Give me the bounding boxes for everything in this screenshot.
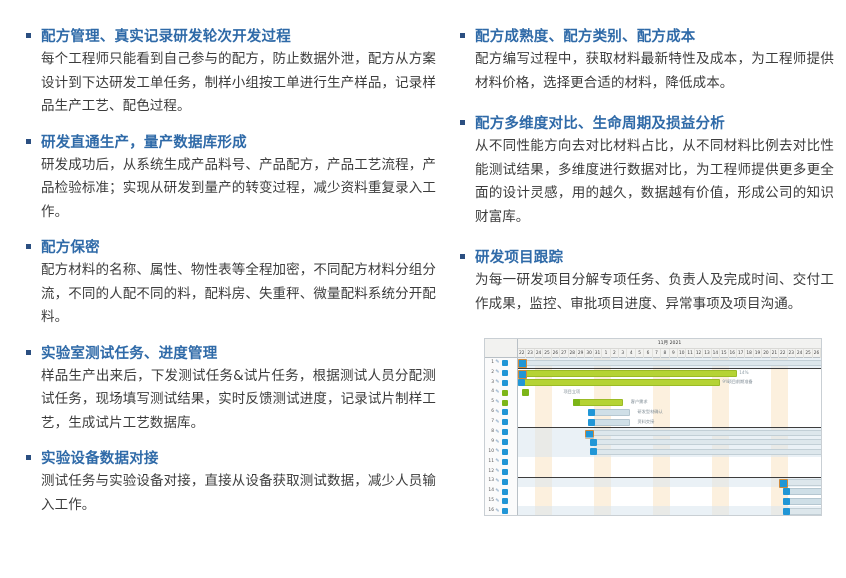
pencil-icon[interactable]: ✎	[494, 370, 501, 375]
gantt-task-tracks: 14%9%项目前期准备项目立项客户需求研发型材确认资料交接基础物料采购系统流程确…	[518, 358, 821, 515]
gantt-task-row[interactable]: 研发型材确认	[518, 407, 821, 417]
gantt-day-tick: 4	[627, 349, 635, 358]
right-column: 配方成熟度、配方类别、配方成本 配方编写过程中，获取材料最新特性及成本，为工程师…	[446, 26, 846, 516]
feature-block-rd-to-production: 研发直通生产，量产数据库形成 研发成功后，从系统生成产品料号、产品配方，产品工艺…	[26, 132, 436, 225]
gantt-row-number: 7	[486, 420, 494, 424]
gantt-milestone-chip[interactable]	[588, 419, 595, 426]
gantt-bar[interactable]	[590, 449, 821, 456]
gantt-row-marker-icon	[502, 479, 508, 485]
gantt-row-header[interactable]: 3✎	[485, 378, 517, 388]
gantt-day-tick: 23	[788, 349, 796, 358]
feature-block-lab-test-task: 实验室测试任务、进度管理 样品生产出来后，下发测试任务&试片任务，根据测试人员分…	[26, 343, 436, 436]
feature-description: 配方编写过程中，获取材料最新特性及成本，为工程师提供材料价格，选择更合适的材料，…	[475, 48, 834, 95]
feature-description: 每个工程师只能看到自己参与的配方，防止数据外泄，配方从方案设计到下达研发工单任务…	[41, 48, 436, 119]
feature-title: 实验设备数据对接	[41, 448, 159, 470]
feature-block-formula-management: 配方管理、真实记录研发轮次开发过程 每个工程师只能看到自己参与的配方，防止数据外…	[26, 26, 436, 119]
gantt-row-number: 2	[486, 371, 494, 375]
gantt-bar[interactable]	[573, 399, 624, 406]
gantt-timeline-header: 11月 2021 2223242526272829303112345678910…	[518, 339, 821, 358]
gantt-day-tick: 9	[670, 349, 678, 358]
gantt-row-marker-icon	[502, 370, 508, 376]
gantt-task-row[interactable]: 14%	[518, 368, 821, 378]
square-bullet-icon	[460, 120, 465, 125]
gantt-task-label: 资料交接	[638, 419, 655, 426]
gantt-progress-label: 14%	[739, 370, 748, 377]
feature-heading-row: 研发直通生产，量产数据库形成	[26, 132, 436, 154]
feature-block-multidimensional-comparison: 配方多维度对比、生命周期及损益分析 从不同性能方向去对比材料占比，从不同材料比例…	[460, 113, 834, 229]
gantt-day-tick: 10	[678, 349, 686, 358]
gantt-row-number: 1	[486, 361, 494, 365]
gantt-row-number: 12	[486, 470, 494, 474]
gantt-day-tick: 22	[779, 349, 787, 358]
gantt-day-tick: 15	[720, 349, 728, 358]
gantt-task-row[interactable]	[518, 506, 821, 515]
gantt-milestone-chip[interactable]	[588, 409, 595, 416]
pencil-icon[interactable]: ✎	[494, 449, 501, 454]
gantt-row-marker-icon	[502, 409, 508, 415]
gantt-row-header[interactable]: 4✎	[485, 388, 517, 398]
feature-title: 配方多维度对比、生命周期及损益分析	[475, 113, 725, 135]
gantt-row-marker-icon	[502, 459, 508, 465]
feature-block-lab-equipment-integration: 实验设备数据对接 测试任务与实验设备对接，直接从设备获取测试数据，减少人员输入工…	[26, 448, 436, 517]
gantt-bar[interactable]	[518, 379, 720, 386]
pencil-icon[interactable]: ✎	[494, 499, 501, 504]
gantt-row-number: 8	[486, 430, 494, 434]
gantt-task-label: 客户需求	[631, 399, 648, 406]
gantt-task-row[interactable]: 基础物料采购	[518, 487, 821, 497]
gantt-day-tick: 22	[518, 349, 526, 358]
gantt-task-row[interactable]	[518, 358, 821, 368]
gantt-row-number: 13	[486, 479, 494, 483]
gantt-row-number: 15	[486, 499, 494, 503]
gantt-day-tick: 25	[543, 349, 551, 358]
gantt-row-header[interactable]: 6✎	[485, 407, 517, 417]
gantt-row-header[interactable]: 7✎	[485, 417, 517, 427]
gantt-row-header[interactable]: 16✎	[485, 506, 517, 516]
gantt-row-marker-icon	[502, 469, 508, 475]
pencil-icon[interactable]: ✎	[494, 390, 501, 395]
gantt-milestone-chip[interactable]	[783, 488, 790, 495]
feature-heading-row: 配方多维度对比、生命周期及损益分析	[460, 113, 834, 135]
feature-title: 研发项目跟踪	[475, 247, 563, 269]
gantt-day-tick: 2	[611, 349, 619, 358]
gantt-chart[interactable]: 1✎2✎3✎4✎5✎6✎7✎8✎9✎10✎11✎12✎13✎14✎15✎16✎ …	[484, 338, 822, 516]
square-bullet-icon	[26, 350, 31, 355]
gantt-row-header[interactable]: 1✎	[485, 358, 517, 368]
gantt-milestone-chip[interactable]	[518, 379, 525, 386]
gantt-task-row[interactable]	[518, 477, 821, 487]
gantt-day-tick: 19	[754, 349, 762, 358]
gantt-task-row[interactable]	[518, 457, 821, 467]
gantt-milestone-chip[interactable]	[573, 399, 580, 406]
gantt-day-tick: 17	[737, 349, 745, 358]
gantt-day-tick: 18	[745, 349, 753, 358]
gantt-row-marker-icon	[502, 498, 508, 504]
gantt-day-tick: 20	[762, 349, 770, 358]
gantt-task-row[interactable]: 客户需求	[518, 398, 821, 408]
gantt-day-tick: 24	[796, 349, 804, 358]
pencil-icon[interactable]: ✎	[494, 430, 501, 435]
gantt-day-tick: 29	[577, 349, 585, 358]
gantt-row-gutter: 1✎2✎3✎4✎5✎6✎7✎8✎9✎10✎11✎12✎13✎14✎15✎16✎	[485, 339, 518, 515]
feature-heading-row: 配方保密	[26, 237, 436, 259]
square-bullet-icon	[26, 33, 31, 38]
gantt-bar[interactable]	[590, 439, 821, 446]
two-column-layout: 配方管理、真实记录研发轮次开发过程 每个工程师只能看到自己参与的配方，防止数据外…	[0, 0, 846, 578]
gantt-task-row[interactable]	[518, 447, 821, 457]
pencil-icon[interactable]: ✎	[494, 360, 501, 365]
slide-root: 配方管理、真实记录研发轮次开发过程 每个工程师只能看到自己参与的配方，防止数据外…	[0, 0, 846, 578]
gantt-day-tick: 5	[636, 349, 644, 358]
gantt-row-header[interactable]: 11✎	[485, 457, 517, 467]
gantt-day-tick: 3	[619, 349, 627, 358]
gantt-row-marker-icon	[502, 439, 508, 445]
gantt-row-header[interactable]: 9✎	[485, 437, 517, 447]
gantt-day-tick: 7	[653, 349, 661, 358]
gantt-month-band: 11月 2021	[518, 339, 821, 349]
gantt-row-number: 11	[486, 460, 494, 464]
gantt-row-marker-icon	[502, 380, 508, 386]
feature-description: 为每一研发项目分解专项任务、负责人及完成时间、交付工作成果，监控、审批项目进度、…	[475, 269, 834, 316]
gantt-day-tick: 23	[526, 349, 534, 358]
feature-block-formula-maturity-cost: 配方成熟度、配方类别、配方成本 配方编写过程中，获取材料最新特性及成本，为工程师…	[460, 26, 834, 95]
feature-title: 研发直通生产，量产数据库形成	[41, 132, 247, 154]
gantt-day-tick: 21	[771, 349, 779, 358]
gantt-day-tick: 12	[695, 349, 703, 358]
feature-title: 实验室测试任务、进度管理	[41, 343, 217, 365]
feature-block-formula-confidentiality: 配方保密 配方材料的名称、属性、物性表等全程加密，不同配方材料分组分流，不同的人…	[26, 237, 436, 330]
gantt-row-number: 10	[486, 450, 494, 454]
gantt-bar[interactable]	[585, 430, 821, 437]
gantt-task-label: 研发型材确认	[638, 409, 663, 416]
feature-title: 配方成熟度、配方类别、配方成本	[475, 26, 696, 48]
gantt-task-row[interactable]: 项目立项	[518, 388, 821, 398]
pencil-icon[interactable]: ✎	[494, 459, 501, 464]
gantt-month-label: 11月 2021	[658, 339, 682, 348]
gantt-day-tick: 11	[686, 349, 694, 358]
gantt-row-number: 6	[486, 410, 494, 414]
gantt-day-tick: 25	[804, 349, 812, 358]
gantt-day-tick: 1	[602, 349, 610, 358]
gantt-day-tick: 28	[569, 349, 577, 358]
gantt-day-tick: 27	[560, 349, 568, 358]
gantt-task-row[interactable]	[518, 437, 821, 447]
square-bullet-icon	[26, 139, 31, 144]
gantt-row-header[interactable]: 13✎	[485, 477, 517, 487]
gantt-bar[interactable]	[518, 370, 737, 377]
gantt-row-number: 16	[486, 509, 494, 513]
gantt-row-marker-icon	[502, 449, 508, 455]
gantt-chart-body[interactable]: 14%9%项目前期准备项目立项客户需求研发型材确认资料交接基础物料采购系统流程确…	[518, 358, 821, 515]
square-bullet-icon	[460, 254, 465, 259]
gantt-row-header[interactable]: 15✎	[485, 496, 517, 506]
gantt-task-row[interactable]: 资料交接	[518, 417, 821, 427]
gantt-task-row[interactable]	[518, 467, 821, 477]
gantt-row-marker-icon	[502, 419, 508, 425]
gantt-day-tick: 26	[552, 349, 560, 358]
gantt-row-marker-icon	[502, 489, 508, 495]
gantt-gutter-rows: 1✎2✎3✎4✎5✎6✎7✎8✎9✎10✎11✎12✎13✎14✎15✎16✎	[485, 358, 517, 516]
gantt-day-tick: 31	[594, 349, 602, 358]
gantt-row-header[interactable]: 2✎	[485, 368, 517, 378]
gantt-day-tick-row: 2223242526272829303112345678910111213141…	[518, 349, 821, 358]
gantt-task-label: 项目立项	[563, 389, 580, 396]
gantt-row-marker-icon	[502, 508, 508, 514]
square-bullet-icon	[26, 244, 31, 249]
gantt-row-number: 14	[486, 489, 494, 493]
pencil-icon[interactable]: ✎	[494, 400, 501, 405]
feature-heading-row: 配方成熟度、配方类别、配方成本	[460, 26, 834, 48]
gantt-chart-figure: 1✎2✎3✎4✎5✎6✎7✎8✎9✎10✎11✎12✎13✎14✎15✎16✎ …	[484, 338, 822, 516]
feature-heading-row: 配方管理、真实记录研发轮次开发过程	[26, 26, 436, 48]
gantt-row-header[interactable]: 10✎	[485, 447, 517, 457]
feature-title: 配方保密	[41, 237, 100, 259]
gantt-task-row[interactable]: 系统流程确认	[518, 496, 821, 506]
pencil-icon[interactable]: ✎	[494, 509, 501, 514]
gantt-task-label: 项目前期准备	[728, 379, 753, 386]
feature-description: 配方材料的名称、属性、物性表等全程加密，不同配方材料分组分流，不同的人配不同的料…	[41, 259, 436, 330]
feature-title: 配方管理、真实记录研发轮次开发过程	[41, 26, 291, 48]
gantt-day-tick: 14	[712, 349, 720, 358]
gantt-day-tick: 6	[644, 349, 652, 358]
pencil-icon[interactable]: ✎	[494, 489, 501, 494]
left-column: 配方管理、真实记录研发轮次开发过程 每个工程师只能看到自己参与的配方，防止数据外…	[0, 26, 446, 517]
feature-description: 测试任务与实验设备对接，直接从设备获取测试数据，减少人员输入工作。	[41, 470, 436, 517]
feature-heading-row: 实验室测试任务、进度管理	[26, 343, 436, 365]
pencil-icon[interactable]: ✎	[494, 420, 501, 425]
gantt-row-marker-icon	[502, 400, 508, 406]
feature-block-project-tracking: 研发项目跟踪 为每一研发项目分解专项任务、负责人及完成时间、交付工作成果，监控、…	[460, 247, 834, 316]
gantt-day-tick: 24	[535, 349, 543, 358]
feature-description: 样品生产出来后，下发测试任务&试片任务，根据测试人员分配测试任务，现场填写测试结…	[41, 365, 436, 436]
pencil-icon[interactable]: ✎	[494, 410, 501, 415]
gantt-day-tick: 13	[703, 349, 711, 358]
gantt-day-tick: 8	[661, 349, 669, 358]
gantt-milestone-chip[interactable]	[590, 448, 597, 455]
gantt-row-number: 3	[486, 381, 494, 385]
gantt-day-tick: 30	[585, 349, 593, 358]
gantt-row-number: 4	[486, 390, 494, 394]
pencil-icon[interactable]: ✎	[494, 479, 501, 484]
gantt-row-marker-icon	[502, 390, 508, 396]
gantt-bar[interactable]	[518, 360, 821, 367]
gantt-row-number: 9	[486, 440, 494, 444]
gantt-row-header[interactable]: 14✎	[485, 487, 517, 497]
gantt-row-header[interactable]: 5✎	[485, 398, 517, 408]
pencil-icon[interactable]: ✎	[494, 469, 501, 474]
gantt-gutter-header	[485, 339, 517, 358]
gantt-row-header[interactable]: 8✎	[485, 427, 517, 437]
gantt-milestone-chip[interactable]	[522, 389, 529, 396]
pencil-icon[interactable]: ✎	[494, 380, 501, 385]
feature-description: 研发成功后，从系统生成产品料号、产品配方，产品工艺流程，产品检验标准；实现从研发…	[41, 154, 436, 225]
square-bullet-icon	[460, 33, 465, 38]
gantt-row-number: 5	[486, 400, 494, 404]
square-bullet-icon	[26, 455, 31, 460]
gantt-day-tick: 26	[813, 349, 821, 358]
gantt-task-row[interactable]: 9%项目前期准备	[518, 378, 821, 388]
gantt-task-row[interactable]	[518, 427, 821, 437]
pencil-icon[interactable]: ✎	[494, 440, 501, 445]
gantt-milestone-chip[interactable]	[590, 439, 597, 446]
feature-heading-row: 研发项目跟踪	[460, 247, 834, 269]
gantt-row-header[interactable]: 12✎	[485, 467, 517, 477]
feature-description: 从不同性能方向去对比材料占比，从不同材料比例去对比性能测试结果，多维度进行数据对…	[475, 135, 834, 229]
gantt-row-marker-icon	[502, 429, 508, 435]
gantt-row-marker-icon	[502, 360, 508, 366]
gantt-milestone-chip[interactable]	[783, 508, 790, 515]
gantt-day-tick: 16	[729, 349, 737, 358]
feature-heading-row: 实验设备数据对接	[26, 448, 436, 470]
gantt-milestone-chip[interactable]	[783, 498, 790, 505]
